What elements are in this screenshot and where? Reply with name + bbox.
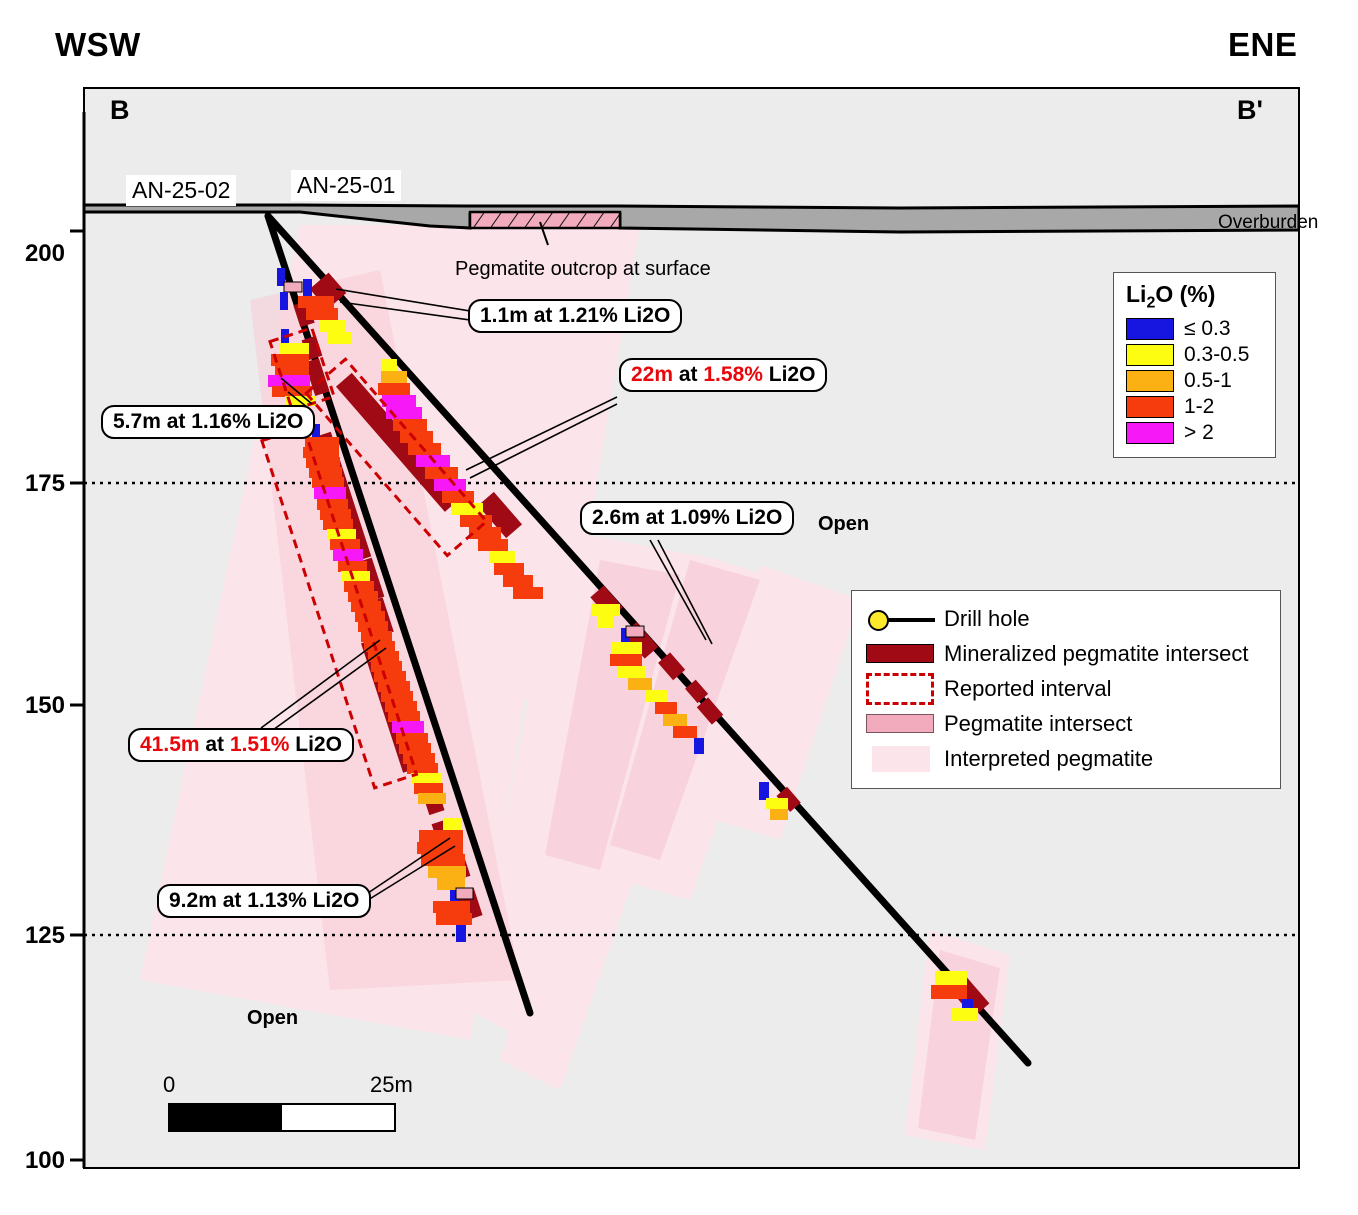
li2o-legend-row-3: 1-2: [1126, 395, 1265, 419]
li2o-legend-row-1: 0.3-0.5: [1126, 343, 1265, 367]
callout-grade: 1.09%: [670, 506, 730, 529]
li2o-label-3: 1-2: [1184, 395, 1214, 419]
mineralized-swatch-icon: [866, 644, 944, 663]
elevation-axis: [70, 112, 84, 1168]
section-letter-b: B: [110, 95, 130, 126]
li2o-label-2: 0.5-1: [1184, 369, 1232, 393]
callout-unit: Li2O: [763, 363, 816, 386]
axis-tick-175: 175: [0, 470, 65, 498]
legend-row-drill-hole: Drill hole: [866, 601, 1268, 636]
callout-value: 5.7m: [113, 410, 161, 433]
li2o-legend-title: Li2O (%): [1126, 281, 1265, 313]
scale-bar-filled-half: [170, 1105, 282, 1130]
callout-22m[interactable]: 22m at 1.58% Li2O: [619, 358, 827, 392]
legend-row-mineralized: Mineralized pegmatite intersect: [866, 636, 1268, 671]
section-figure: WSW ENE B B' 200 175 150 125 100 Overbur…: [0, 0, 1358, 1215]
drill-hole-icon: [866, 608, 944, 630]
pegmatite-outcrop-label: Pegmatite outcrop at surface: [455, 258, 711, 281]
li2o-label-1: 0.3-0.5: [1184, 343, 1249, 367]
axis-tick-200: 200: [0, 240, 65, 268]
callout-2-6m[interactable]: 2.6m at 1.09% Li2O: [580, 501, 794, 535]
li2o-legend-row-4: > 2: [1126, 421, 1265, 445]
callout-grade: 1.16%: [191, 410, 251, 433]
callout-conn: at: [217, 889, 247, 912]
callout-grade: 1.13%: [247, 889, 307, 912]
callout-1-1m[interactable]: 1.1m at 1.21% Li2O: [468, 299, 682, 333]
callout-conn: at: [640, 506, 670, 529]
callout-grade: 1.21%: [558, 304, 618, 327]
section-letter-b-prime: B': [1237, 95, 1263, 126]
overburden-label: Overburden: [1218, 212, 1318, 234]
drill-hole-label-AN-25-02[interactable]: AN-25-02: [126, 175, 236, 206]
legend-label-interpreted-pegmatite: Interpreted pegmatite: [944, 746, 1153, 772]
main-legend: Drill hole Mineralized pegmatite interse…: [851, 590, 1281, 789]
legend-label-drill-hole: Drill hole: [944, 606, 1030, 632]
scale-bar-min-label: 0: [163, 1072, 175, 1098]
callout-conn: at: [161, 410, 191, 433]
axis-tick-150: 150: [0, 692, 65, 720]
li2o-swatch-blue: [1126, 318, 1174, 340]
callout-unit: Li2O: [251, 410, 304, 433]
li2o-legend-row-2: 0.5-1: [1126, 369, 1265, 393]
scale-bar-max-label: 25m: [370, 1072, 413, 1098]
li2o-swatch-magenta: [1126, 422, 1174, 444]
axis-tick-100: 100: [0, 1147, 65, 1175]
reported-interval-icon: [866, 673, 944, 705]
li2o-title-rest: O (%): [1155, 281, 1215, 307]
callout-unit: Li2O: [289, 733, 342, 756]
scale-bar: [168, 1103, 396, 1132]
callout-value: 1.1m: [480, 304, 528, 327]
li2o-legend: Li2O (%) ≤ 0.3 0.3-0.5 0.5-1 1-2 > 2: [1113, 272, 1276, 458]
li2o-swatch-red: [1126, 396, 1174, 418]
axis-tick-125: 125: [0, 922, 65, 950]
callout-conn: at: [200, 733, 230, 756]
callout-value: 2.6m: [592, 506, 640, 529]
interpreted-pegmatite-swatch-icon: [866, 746, 944, 772]
callout-conn: at: [528, 304, 558, 327]
li2o-swatch-orange: [1126, 370, 1174, 392]
compass-label-wsw: WSW: [55, 26, 141, 64]
callout-value: 9.2m: [169, 889, 217, 912]
callout-unit: Li2O: [307, 889, 360, 912]
callout-value: 22m: [631, 363, 673, 386]
callout-9-2m[interactable]: 9.2m at 1.13% Li2O: [157, 884, 371, 918]
callout-unit: Li2O: [730, 506, 783, 529]
callout-5-7m[interactable]: 5.7m at 1.16% Li2O: [101, 405, 315, 439]
legend-label-reported-interval: Reported interval: [944, 676, 1112, 702]
callout-41-5m[interactable]: 41.5m at 1.51% Li2O: [128, 728, 354, 762]
callout-value: 41.5m: [140, 733, 200, 756]
callout-grade: 1.51%: [230, 733, 290, 756]
open-label-left: Open: [247, 1007, 298, 1030]
compass-label-ene: ENE: [1228, 26, 1297, 64]
open-label-right: Open: [818, 513, 869, 536]
legend-label-mineralized: Mineralized pegmatite intersect: [944, 641, 1248, 667]
li2o-legend-row-0: ≤ 0.3: [1126, 317, 1265, 341]
legend-row-reported-interval: Reported interval: [866, 671, 1268, 706]
li2o-label-4: > 2: [1184, 421, 1214, 445]
callout-conn: at: [673, 363, 703, 386]
legend-row-pegmatite-intersect: Pegmatite intersect: [866, 706, 1268, 741]
legend-label-pegmatite-intersect: Pegmatite intersect: [944, 711, 1132, 737]
legend-row-interpreted-pegmatite: Interpreted pegmatite: [866, 741, 1268, 776]
callout-unit: Li2O: [618, 304, 671, 327]
pegmatite-intersect-swatch-icon: [866, 714, 944, 733]
li2o-title-li: Li: [1126, 281, 1146, 307]
li2o-swatch-yellow: [1126, 344, 1174, 366]
callout-grade: 1.58%: [703, 363, 763, 386]
drill-hole-label-AN-25-01[interactable]: AN-25-01: [291, 170, 401, 201]
li2o-label-0: ≤ 0.3: [1184, 317, 1231, 341]
